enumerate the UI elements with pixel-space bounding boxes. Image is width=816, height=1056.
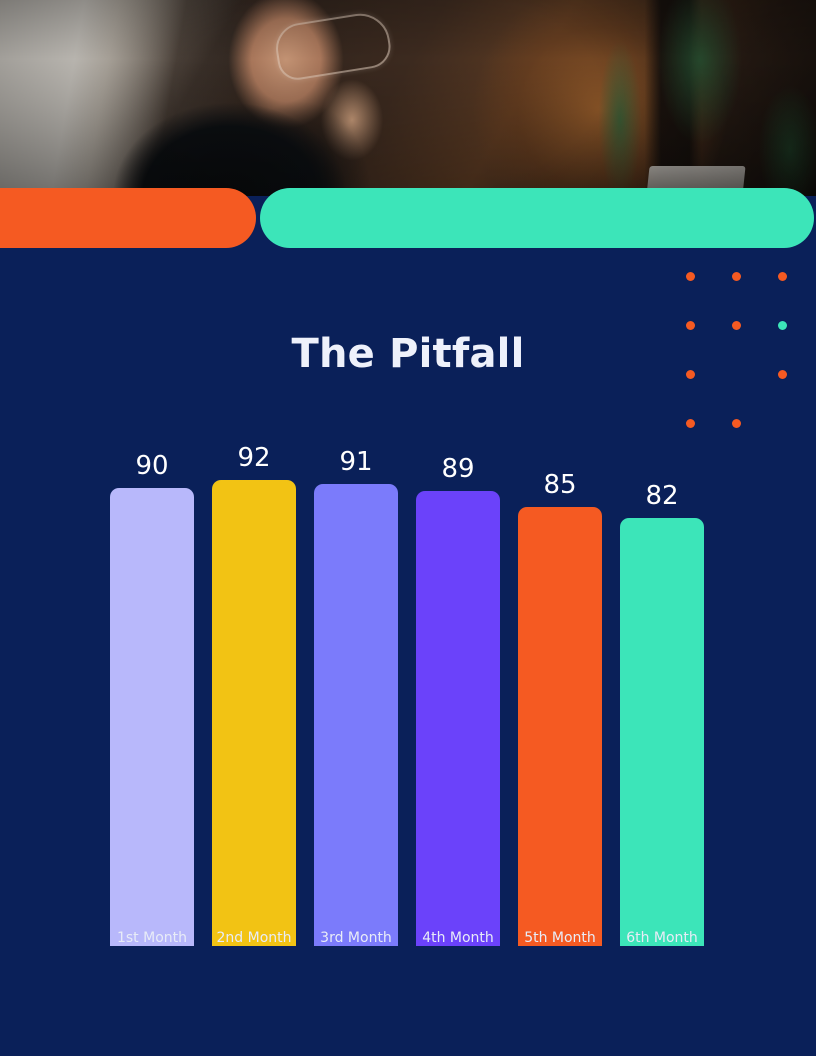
hero-photo-banner (0, 0, 816, 196)
bar-value-label: 89 (441, 456, 474, 482)
bar-column: 894th Month (416, 440, 500, 946)
bar-category-label: 6th Month (602, 930, 722, 946)
decorative-dot (732, 419, 741, 428)
bar-chart: 901st Month922nd Month913rd Month894th M… (110, 440, 730, 1000)
bar (620, 518, 704, 946)
bar-value-label: 90 (135, 453, 168, 479)
bar (110, 488, 194, 946)
bar-value-label: 92 (237, 445, 270, 471)
bar-value-label: 82 (645, 483, 678, 509)
hero-vignette-overlay (0, 0, 816, 196)
bar (314, 484, 398, 946)
decorative-dot (778, 272, 787, 281)
page-title: The Pitfall (0, 331, 816, 377)
bar-column: 855th Month (518, 440, 602, 946)
decorative-dot (686, 272, 695, 281)
decorative-dot (732, 272, 741, 281)
decorative-dot (732, 321, 741, 330)
banner-pill-orange (0, 188, 256, 248)
bar (416, 491, 500, 946)
decorative-dot (686, 419, 695, 428)
bar-value-label: 91 (339, 449, 372, 475)
bar (518, 507, 602, 946)
bar-column: 826th Month (620, 440, 704, 946)
decorative-dot (778, 321, 787, 330)
decorative-dot (686, 321, 695, 330)
bar-value-label: 85 (543, 472, 576, 498)
bar-column: 901st Month (110, 440, 194, 946)
bar (212, 480, 296, 946)
bar-column: 913rd Month (314, 440, 398, 946)
banner-pill-teal (260, 188, 814, 248)
bar-column: 922nd Month (212, 440, 296, 946)
